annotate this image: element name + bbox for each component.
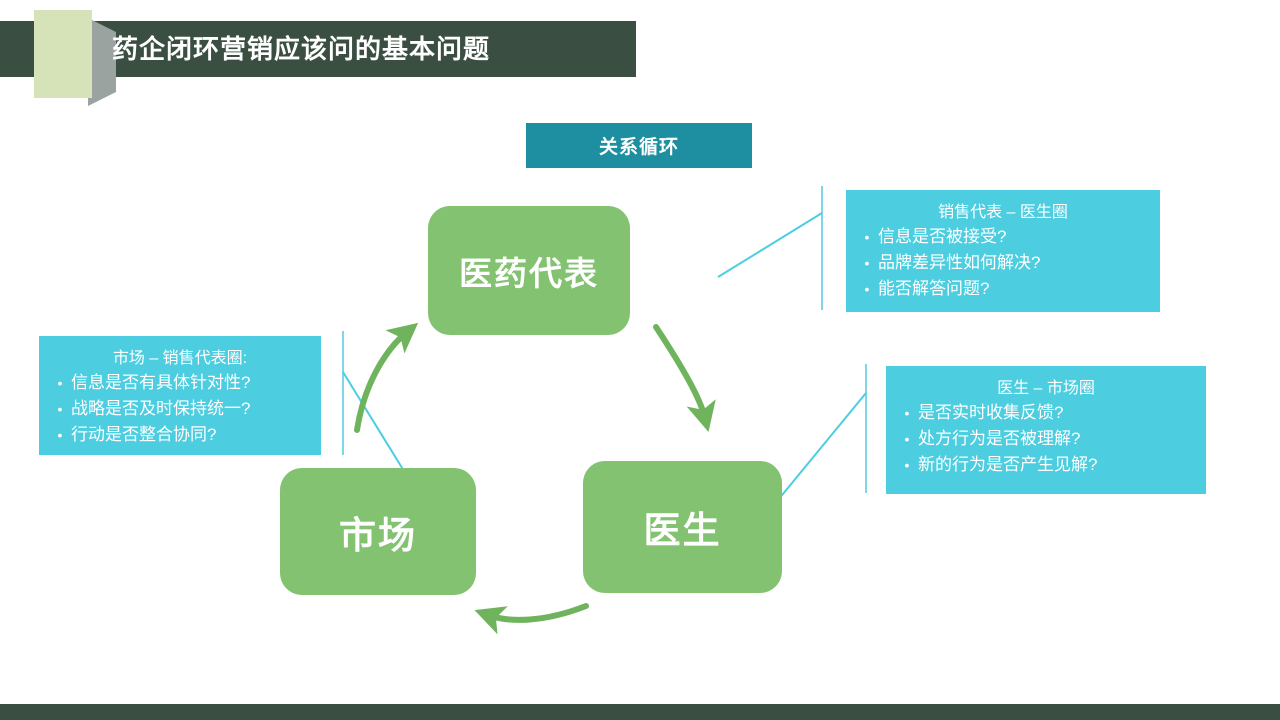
list-item: •行动是否整合协同? — [49, 422, 311, 448]
bullet-icon: • — [49, 397, 71, 422]
list-item-label: 战略是否及时保持统一? — [71, 396, 250, 421]
callout-doctor-market-list: •是否实时收集反馈? •处方行为是否被理解? •新的行为是否产生见解? — [896, 400, 1196, 478]
callout-market-rep: 市场 – 销售代表圈: •信息是否有具体针对性? •战略是否及时保持统一? •行… — [39, 336, 321, 455]
node-market[interactable]: 市场 — [280, 468, 476, 595]
list-item-label: 新的行为是否产生见解? — [918, 452, 1097, 477]
bullet-icon: • — [49, 423, 71, 448]
bullet-icon: • — [49, 371, 71, 396]
list-item-label: 是否实时收集反馈? — [918, 400, 1063, 425]
list-item-label: 处方行为是否被理解? — [918, 426, 1080, 451]
callout-rep-doctor-list: •信息是否被接受? •品牌差异性如何解决? •能否解答问题? — [856, 224, 1150, 302]
list-item: •能否解答问题? — [856, 276, 1150, 302]
callout-doctor-market-title: 医生 – 市场圈 — [896, 374, 1196, 398]
callout-rep-doctor: 销售代表 – 医生圈 •信息是否被接受? •品牌差异性如何解决? •能否解答问题… — [846, 190, 1160, 312]
list-item: •品牌差异性如何解决? — [856, 250, 1150, 276]
list-item-label: 能否解答问题? — [878, 276, 989, 301]
callout-market-rep-list: •信息是否有具体针对性? •战略是否及时保持统一? •行动是否整合协同? — [49, 370, 311, 448]
arrow-doctor-to-market — [488, 606, 586, 620]
bullet-icon: • — [856, 251, 878, 276]
list-item-label: 信息是否被接受? — [878, 224, 1006, 249]
list-item-label: 行动是否整合协同? — [71, 422, 216, 447]
list-item: •信息是否有具体针对性? — [49, 370, 311, 396]
arrow-rep-to-doctor — [656, 327, 705, 418]
bullet-icon: • — [856, 225, 878, 250]
leader-line-rep-doctor — [718, 186, 822, 310]
callout-rep-doctor-title: 销售代表 – 医生圈 — [856, 198, 1150, 222]
leader-line-doctor-market — [778, 364, 866, 500]
cycle-label: 关系循环 — [526, 123, 752, 168]
list-item: •战略是否及时保持统一? — [49, 396, 311, 422]
list-item: •处方行为是否被理解? — [896, 426, 1196, 452]
bullet-icon: • — [896, 401, 918, 426]
bullet-icon: • — [896, 453, 918, 478]
page-title: 药企闭环营销应该问的基本问题 — [112, 21, 622, 77]
list-item-label: 信息是否有具体针对性? — [71, 370, 250, 395]
list-item: •是否实时收集反馈? — [896, 400, 1196, 426]
list-item: •信息是否被接受? — [856, 224, 1150, 250]
list-item-label: 品牌差异性如何解决? — [878, 250, 1040, 275]
callout-market-rep-title: 市场 – 销售代表圈: — [49, 344, 311, 368]
callout-doctor-market: 医生 – 市场圈 •是否实时收集反馈? •处方行为是否被理解? •新的行为是否产… — [886, 366, 1206, 494]
node-medical-rep[interactable]: 医药代表 — [428, 206, 630, 335]
bullet-icon: • — [896, 427, 918, 452]
list-item: •新的行为是否产生见解? — [896, 452, 1196, 478]
bullet-icon: • — [856, 277, 878, 302]
arrow-market-to-rep — [357, 332, 407, 430]
footer-bar — [0, 704, 1280, 720]
node-doctor[interactable]: 医生 — [583, 461, 782, 593]
title-tab-accent — [34, 10, 92, 98]
